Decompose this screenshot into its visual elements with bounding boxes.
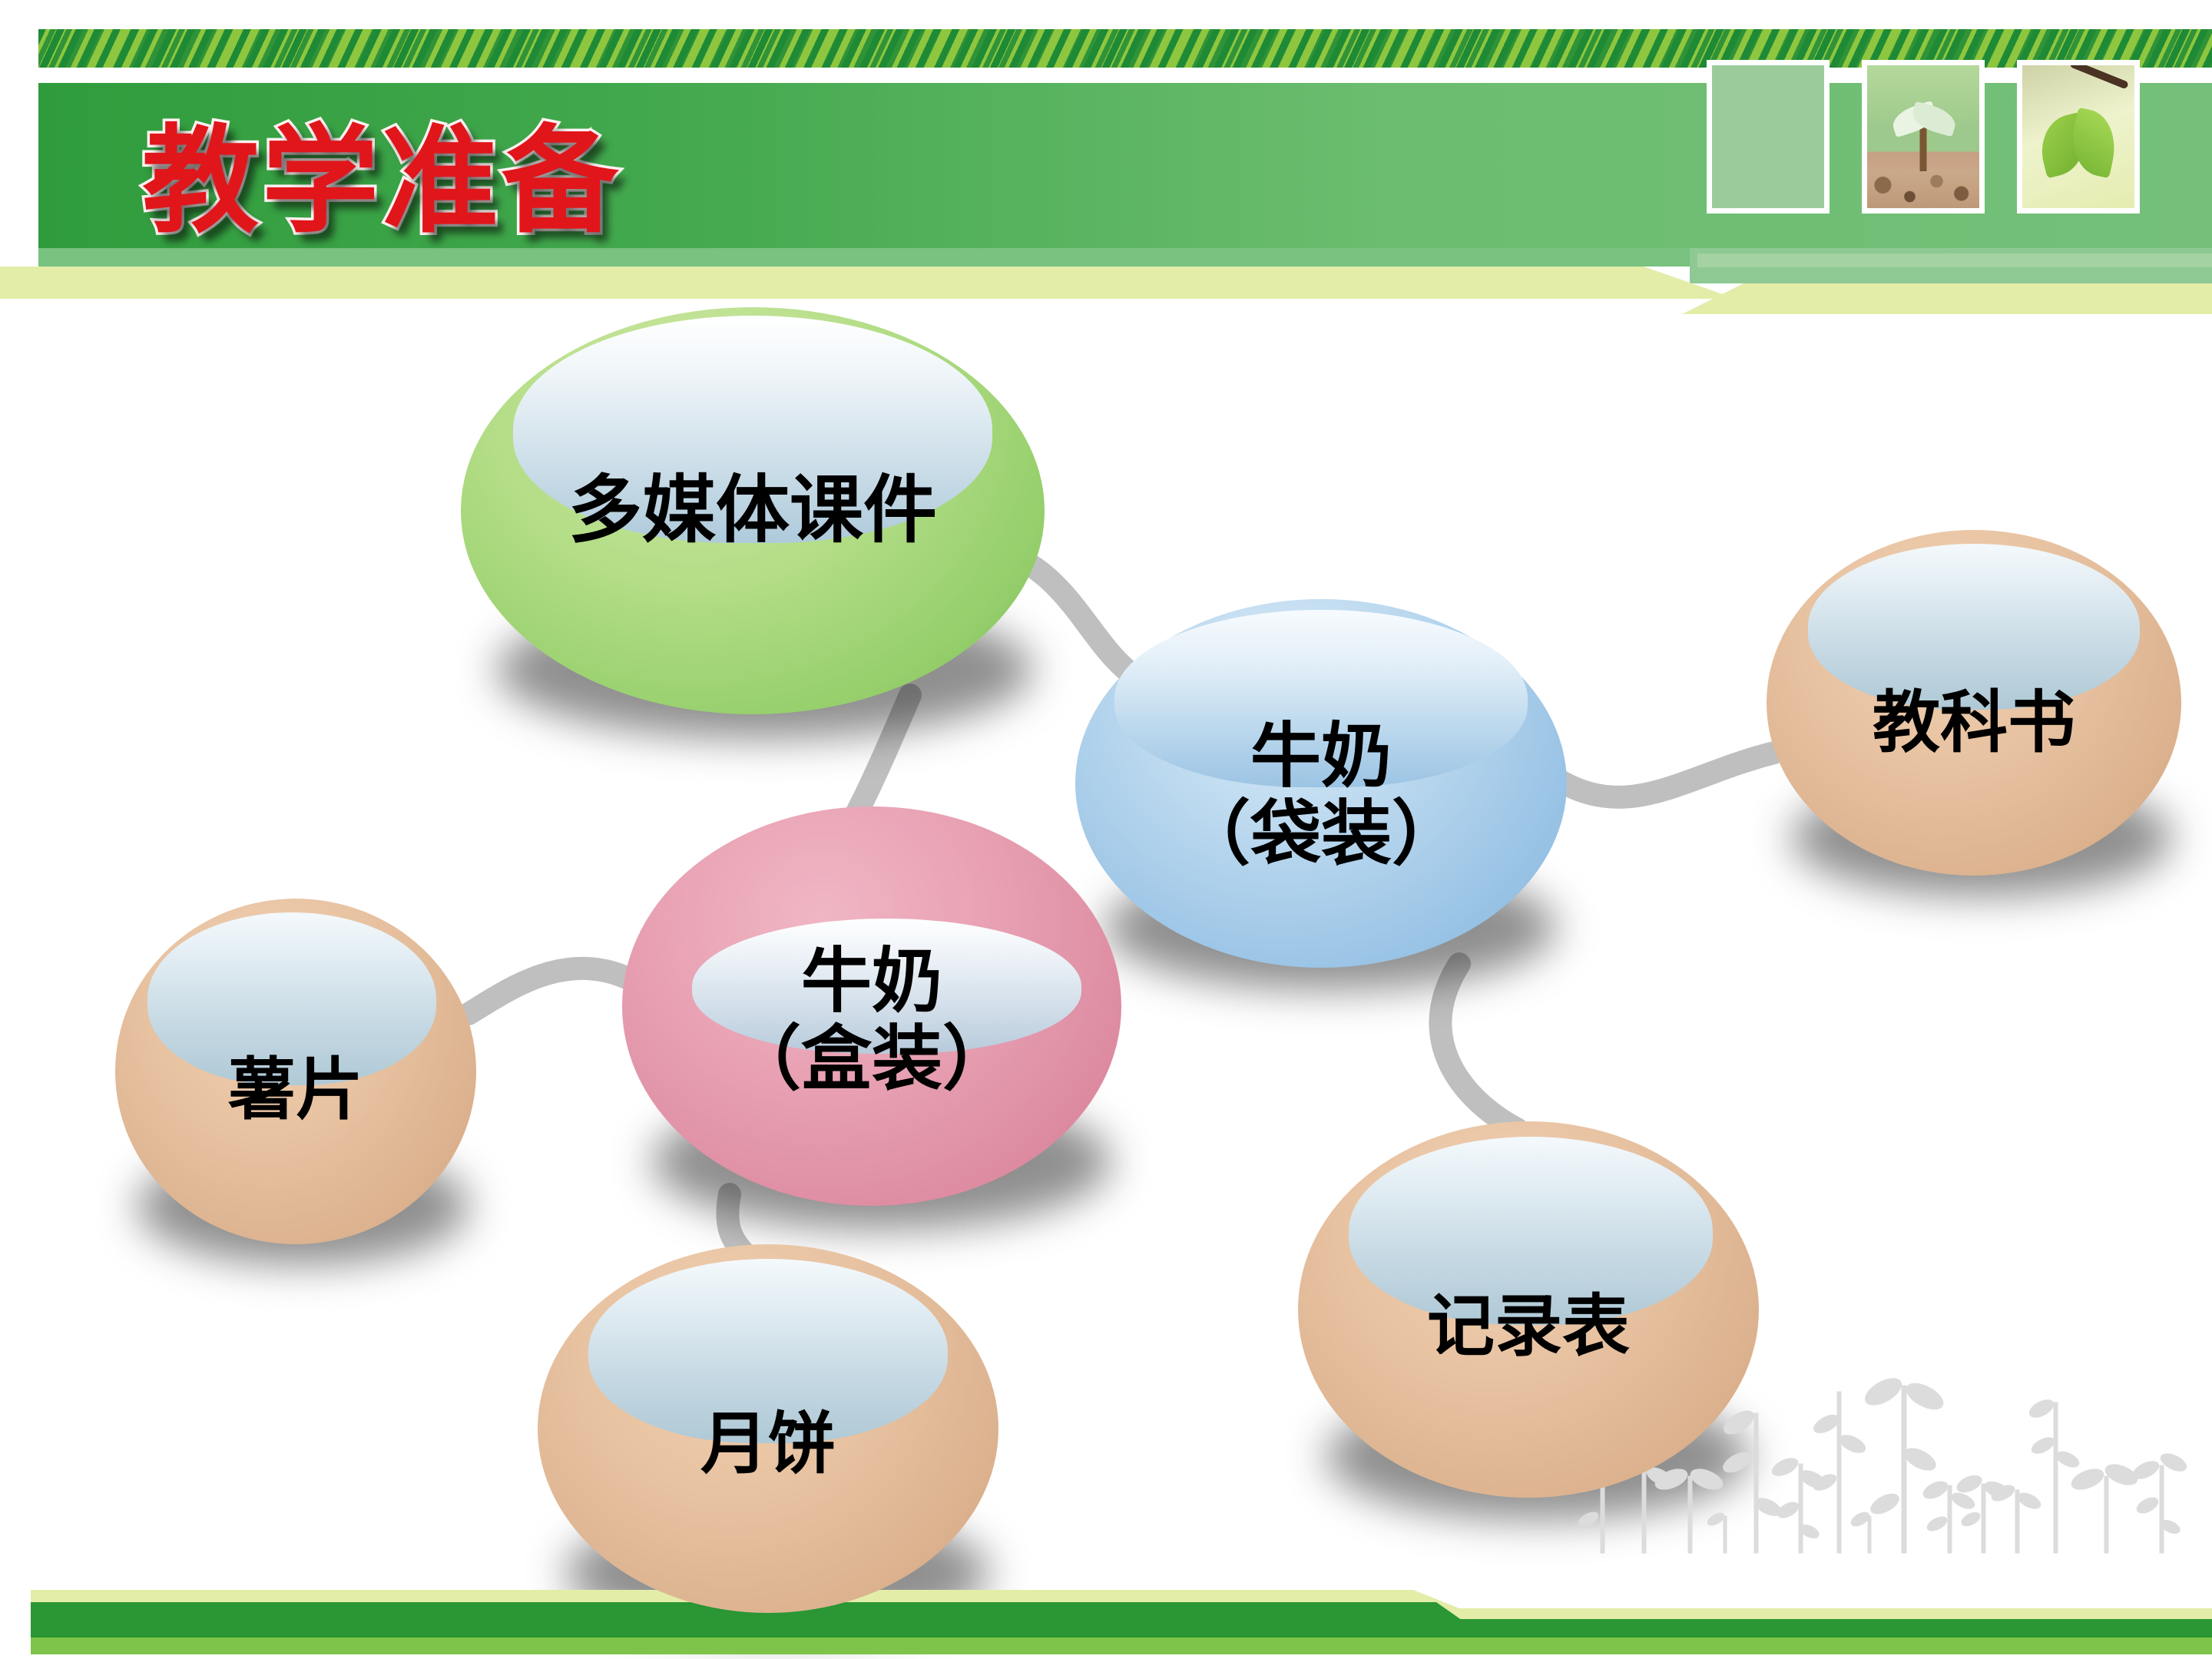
bubble-label: 牛奶 （盒装） (622, 806, 1121, 1206)
bubble-label-line: （袋装） (1180, 795, 1462, 873)
bubble-node-milk-box[interactable]: 牛奶 （盒装） (622, 806, 1121, 1206)
bubble-label-line: （盒装） (730, 1020, 1013, 1098)
bubble-node-mooncake[interactable]: 月饼 (538, 1244, 998, 1613)
bubble-label: 记录表 (1298, 1121, 1759, 1498)
bubble-label-line: 牛奶 (801, 942, 942, 1020)
edge-milkbox-chips (469, 969, 637, 1014)
bubble-label: 多媒体课件 (461, 307, 1045, 714)
bubble-node-chips[interactable]: 薯片 (115, 899, 476, 1244)
bubble-label-line: 多媒体课件 (568, 470, 937, 551)
bubble-node-textbook[interactable]: 教科书 (1767, 530, 2181, 876)
bubble-node-courseware[interactable]: 多媒体课件 (461, 307, 1045, 714)
bubble-node-milk-bag[interactable]: 牛奶 （袋装） (1075, 599, 1567, 968)
bubble-label: 牛奶 （袋装） (1075, 599, 1567, 968)
bubble-label-line: 牛奶 (1250, 717, 1392, 795)
bubble-label: 教科书 (1767, 530, 2181, 876)
edge-milkbag-record (1441, 964, 1517, 1129)
bubble-label: 月饼 (538, 1244, 998, 1613)
bubble-label-line: 教科书 (1873, 686, 2075, 760)
bubble-label-line: 月饼 (700, 1407, 836, 1482)
bubble-label-line: 记录表 (1427, 1290, 1630, 1364)
bubble-label-line: 薯片 (228, 1053, 363, 1128)
edge-milkbag-textbook (1551, 753, 1774, 797)
bubble-label: 薯片 (115, 899, 476, 1244)
bubble-node-record-sheet[interactable]: 记录表 (1298, 1121, 1759, 1498)
footer-light-green-band (31, 1637, 2212, 1654)
